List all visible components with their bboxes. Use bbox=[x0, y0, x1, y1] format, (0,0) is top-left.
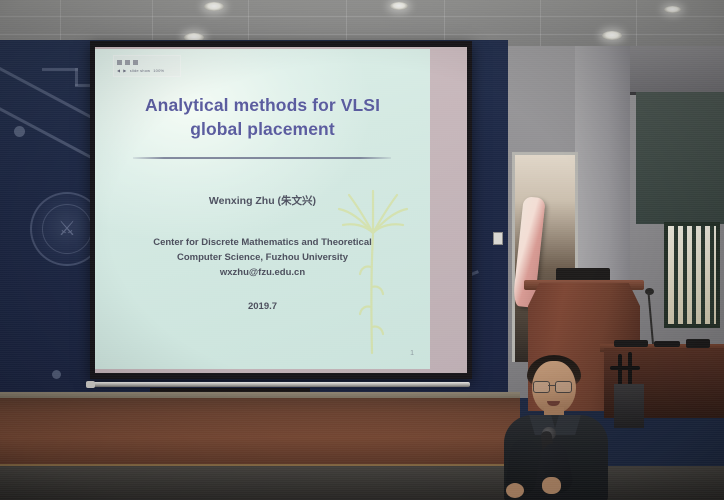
title-divider-rule bbox=[133, 157, 391, 159]
eyeglasses-left-lens bbox=[533, 381, 550, 393]
screen-bar-knob[interactable] bbox=[86, 381, 95, 388]
av-equipment-item bbox=[614, 340, 648, 347]
presenter-email: wxzhu@fzu.edu.cn bbox=[95, 265, 430, 280]
slide-title-line-2: global placement bbox=[95, 117, 430, 141]
ceiling-downlight bbox=[664, 6, 681, 13]
window-bar bbox=[701, 226, 705, 324]
wooden-stage bbox=[0, 398, 520, 470]
screen-weight-bar bbox=[92, 382, 470, 387]
presenter-right-hand bbox=[506, 483, 524, 498]
presenter bbox=[498, 355, 618, 500]
affiliation-line-1: Center for Discrete Mathematics and Theo… bbox=[95, 235, 430, 250]
presenter-left-hand bbox=[542, 477, 561, 494]
projected-slide: ◀ ▶ slide show 100% Analytical methods f… bbox=[95, 49, 430, 369]
projection-screen-surface: ◀ ▶ slide show 100% Analytical methods f… bbox=[95, 47, 467, 373]
ceiling-downlight bbox=[602, 31, 622, 40]
eyeglasses-bridge bbox=[548, 385, 555, 386]
slide-title: Analytical methods for VLSI global place… bbox=[95, 93, 430, 141]
desktop-computer bbox=[614, 384, 644, 428]
window-bar bbox=[692, 226, 696, 324]
close-icon[interactable] bbox=[133, 60, 138, 65]
lecture-hall-scene: ⚔ bbox=[0, 0, 724, 500]
av-equipment-item bbox=[686, 339, 710, 348]
window-bar bbox=[683, 226, 687, 324]
maximize-icon[interactable] bbox=[125, 60, 130, 65]
slide-affiliation: Center for Discrete Mathematics and Theo… bbox=[95, 235, 430, 280]
circuit-trace-line bbox=[42, 68, 78, 71]
circuit-node-dot bbox=[14, 126, 25, 137]
toolbar-prev-label[interactable]: ◀ bbox=[117, 68, 120, 73]
minimize-icon[interactable] bbox=[117, 60, 122, 65]
powerpoint-presenter-toolbar[interactable]: ◀ ▶ slide show 100% bbox=[113, 55, 181, 77]
slide-date: 2019.7 bbox=[95, 301, 430, 312]
pull-down-projection-screen[interactable]: ◀ ▶ slide show 100% Analytical methods f… bbox=[90, 41, 472, 379]
slide-number: 1 bbox=[410, 350, 414, 357]
barred-window bbox=[664, 222, 720, 328]
slide-author: Wenxing Zhu (朱文兴) bbox=[95, 193, 430, 208]
ceiling-downlight bbox=[204, 2, 224, 11]
av-equipment-item bbox=[654, 341, 680, 347]
window-bar bbox=[674, 226, 678, 324]
toolbar-zoom-label[interactable]: 100% bbox=[153, 68, 164, 73]
slide-title-line-1: Analytical methods for VLSI bbox=[95, 93, 430, 117]
affiliation-line-2: Computer Science, Fuzhou University bbox=[95, 250, 430, 265]
toolbar-mode-label[interactable]: slide show bbox=[130, 68, 151, 73]
light-switch[interactable] bbox=[493, 232, 503, 245]
toolbar-window-controls[interactable] bbox=[117, 58, 177, 66]
toolbar-nav-row[interactable]: ◀ ▶ slide show 100% bbox=[117, 66, 177, 74]
ceiling-downlight bbox=[390, 2, 408, 10]
window-bar bbox=[710, 226, 714, 324]
eyeglasses-right-lens bbox=[555, 381, 572, 393]
toolbar-next-label[interactable]: ▶ bbox=[123, 68, 126, 73]
dark-wall-panel bbox=[636, 92, 724, 224]
emblem-inner-mark: ⚔ bbox=[42, 204, 92, 254]
circuit-node-dot bbox=[52, 370, 61, 379]
